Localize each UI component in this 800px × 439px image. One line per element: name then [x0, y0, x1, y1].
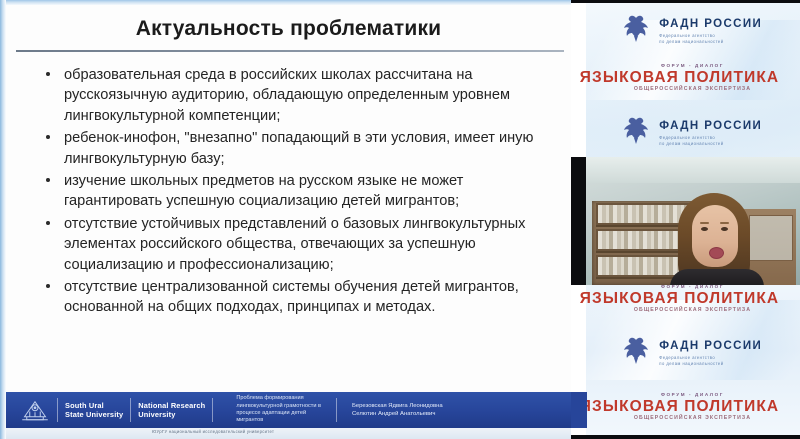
list-item: ребенок-инофон, "внезапно" попадающий в …: [42, 128, 562, 169]
footer-university-block: South Ural State University National Res…: [6, 392, 228, 428]
footer-divider: [57, 398, 58, 422]
presentation-screen-share: Актуальность проблематики образовательна…: [0, 0, 800, 439]
list-item: образовательная среда в российских школа…: [42, 65, 562, 126]
org-subtitle: Федеральное агентство по делам националь…: [659, 135, 762, 146]
backdrop-org-logo-block: ФАДН РОССИИ Федеральное агентство по дел…: [585, 336, 800, 366]
double-headed-eagle-icon: [623, 116, 649, 146]
backdrop-forum-block: ФОРУМ - ДИАЛОГ ЯЗЫКОВАЯ ПОЛИТИКА ОБЩЕРОС…: [585, 392, 800, 422]
footer-authors-block: Березовская Ядвига Леонидовна Селютин Ан…: [344, 392, 451, 428]
bullet-list: образовательная среда в российских школа…: [42, 65, 562, 320]
bullet-dot-icon: [46, 178, 50, 182]
eyebrow: [700, 222, 709, 224]
footer-university-name: South Ural State University: [65, 401, 123, 419]
cabinet-glass: [749, 215, 793, 261]
bullet-dot-icon: [46, 72, 50, 76]
footer-divider: [212, 398, 213, 422]
participant-torso: [670, 269, 764, 285]
backdrop-org-logo-block: ФАДН РОССИИ Федеральное агентство по дел…: [585, 116, 800, 146]
forum-subtitle: ОБЩЕРОССИЙСКАЯ ЭКСПЕРТИЗА: [585, 415, 800, 422]
bullet-text: изучение школьных предметов на русском я…: [64, 173, 463, 209]
list-item: отсутствие централизованной системы обуч…: [42, 277, 562, 318]
forum-subtitle: ОБЩЕРОССИЙСКАЯ ЭКСПЕРТИЗА: [585, 307, 800, 314]
footer-topic-text: Проблема формирования лингвокультурной г…: [236, 395, 321, 424]
title-divider: [16, 50, 564, 52]
forum-title: ЯЗЫКОВАЯ ПОЛИТИКА: [571, 398, 800, 415]
video-letterbox-left: [571, 157, 586, 285]
org-title: ФАДН РОССИИ: [659, 340, 762, 352]
org-title: ФАДН РОССИИ: [659, 18, 762, 30]
backdrop-forum-block: ФОРУМ - ДИАЛОГ ЯЗЫКОВАЯ ПОЛИТИКА ОБЩЕРОС…: [585, 284, 800, 314]
backdrop-org-logo-block: ФАДН РОССИИ Федеральное агентство по дел…: [585, 14, 800, 44]
bullet-dot-icon: [46, 135, 50, 139]
mouth: [709, 247, 724, 259]
slide-footer-bar: South Ural State University National Res…: [6, 392, 571, 428]
slide-title: Актуальность проблематики: [6, 17, 571, 41]
forum-subtitle: ОБЩЕРОССИЙСКАЯ ЭКСПЕРТИЗА: [585, 86, 800, 93]
backdrop-forum-block: ФОРУМ - ДИАЛОГ ЯЗЫКОВАЯ ПОЛИТИКА ОБЩЕРОС…: [585, 63, 800, 93]
video-letterbox-top: [571, 0, 800, 3]
slide-content: Актуальность проблематики образовательна…: [6, 5, 571, 439]
footer-university-status: National Research University: [138, 401, 205, 419]
forum-title: ЯЗЫКОВАЯ ПОЛИТИКА: [571, 69, 800, 86]
list-item: отсутствие устойчивых представлений о ба…: [42, 214, 562, 275]
webcam-video-feed[interactable]: [586, 157, 800, 285]
slide-footer-bleed: [571, 392, 587, 428]
org-subtitle: Федеральное агентство по делам националь…: [659, 355, 762, 366]
footer-topic-block: Проблема формирования лингвокультурной г…: [228, 392, 329, 428]
slide-footer-strip: [6, 428, 571, 439]
eye: [721, 227, 728, 231]
bullet-dot-icon: [46, 284, 50, 288]
forum-title: ЯЗЫКОВАЯ ПОЛИТИКА: [571, 290, 800, 307]
participant-video-panel[interactable]: ФАДН РОССИИ Федеральное агентство по дел…: [571, 0, 800, 439]
bullet-text: ребенок-инофон, "внезапно" попадающий в …: [64, 130, 533, 166]
participant-face: [692, 205, 738, 267]
double-headed-eagle-icon: [623, 14, 649, 44]
bullet-text: образовательная среда в российских школа…: [64, 67, 510, 124]
room-ceiling: [586, 157, 800, 183]
org-subtitle: Федеральное агентство по делам националь…: [659, 33, 762, 44]
video-letterbox-bottom: [571, 435, 800, 439]
eyebrow: [720, 222, 729, 224]
bullet-text: отсутствие централизованной системы обуч…: [64, 279, 519, 315]
footer-divider: [130, 398, 131, 422]
org-title: ФАДН РОССИИ: [659, 120, 762, 132]
eye: [701, 227, 708, 231]
bullet-text: отсутствие устойчивых представлений о ба…: [64, 216, 525, 273]
footer-authors-text: Березовская Ядвига Леонидовна Селютин Ан…: [352, 402, 443, 418]
footer-bottom-note: ЮУрГУ национальный исследовательский уни…: [152, 429, 274, 434]
bullet-dot-icon: [46, 221, 50, 225]
list-item: изучение школьных предметов на русском я…: [42, 171, 562, 212]
footer-divider: [336, 398, 337, 422]
double-headed-eagle-icon: [623, 336, 649, 366]
university-crest-icon: [20, 397, 50, 423]
slide-area: Актуальность проблематики образовательна…: [0, 0, 571, 439]
